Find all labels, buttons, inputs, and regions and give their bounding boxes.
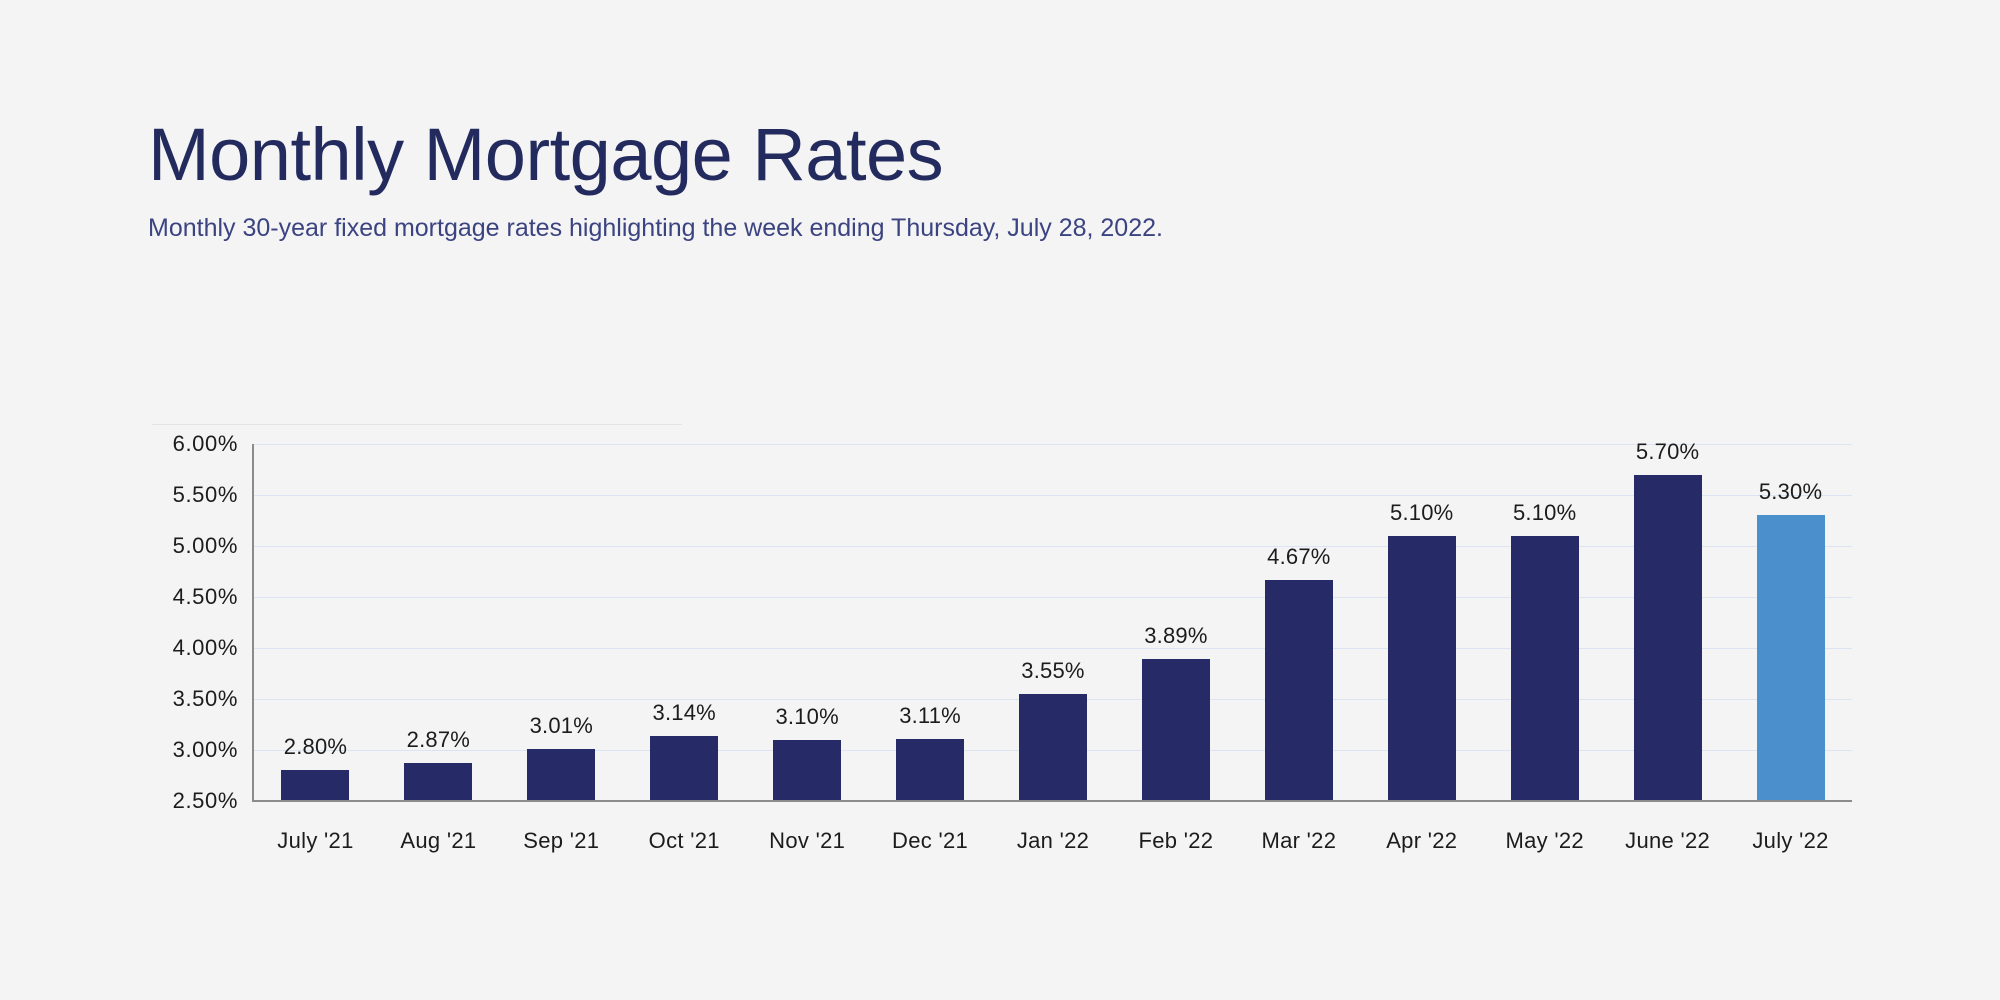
bar[interactable] — [896, 739, 964, 801]
y-axis-tick-label: 6.00% — [150, 431, 238, 457]
bar[interactable] — [1511, 536, 1579, 801]
bar[interactable] — [1388, 536, 1456, 801]
x-axis-line — [252, 800, 1852, 802]
bar-highlighted[interactable] — [1757, 515, 1825, 801]
y-axis-tick-label: 3.00% — [150, 737, 238, 763]
bar-group: 3.11% — [869, 444, 992, 801]
bar-group: 2.80% — [254, 444, 377, 801]
bar-value-label: 3.10% — [775, 704, 838, 730]
x-axis-tick-label: July '22 — [1752, 828, 1828, 854]
bar-value-label: 5.70% — [1636, 439, 1699, 465]
bar-value-label: 2.80% — [284, 734, 347, 760]
chart-canvas: Monthly Mortgage Rates Monthly 30-year f… — [0, 0, 2000, 1000]
y-axis-tick-label: 5.50% — [150, 482, 238, 508]
x-axis-tick-label: Oct '21 — [649, 828, 720, 854]
bar-value-label: 5.10% — [1390, 500, 1453, 526]
y-axis-tick-label: 2.50% — [150, 788, 238, 814]
chart-header: Monthly Mortgage Rates Monthly 30-year f… — [148, 118, 1648, 243]
y-axis-tick-label: 5.00% — [150, 533, 238, 559]
bar[interactable] — [1142, 659, 1210, 801]
bar-group: 5.30% — [1729, 444, 1852, 801]
x-axis-tick-label: Dec '21 — [892, 828, 968, 854]
x-axis-tick-label: Aug '21 — [400, 828, 476, 854]
bar-value-label: 4.67% — [1267, 544, 1330, 570]
bar-group: 3.55% — [992, 444, 1115, 801]
bar[interactable] — [527, 749, 595, 801]
y-axis-tick-label: 3.50% — [150, 686, 238, 712]
bar-group: 2.87% — [377, 444, 500, 801]
bar[interactable] — [404, 763, 472, 801]
bar[interactable] — [281, 770, 349, 801]
bar[interactable] — [773, 740, 841, 801]
bar-value-label: 3.14% — [653, 700, 716, 726]
bar-group: 3.01% — [500, 444, 623, 801]
x-axis-tick-label: Nov '21 — [769, 828, 845, 854]
x-axis-tick-label: June '22 — [1625, 828, 1710, 854]
bar[interactable] — [1634, 475, 1702, 801]
bar-group: 3.89% — [1114, 444, 1237, 801]
x-axis: July '21Aug '21Sep '21Oct '21Nov '21Dec … — [254, 828, 1852, 868]
page-title: Monthly Mortgage Rates — [148, 118, 1648, 192]
bar[interactable] — [650, 736, 718, 801]
bar-value-label: 3.11% — [899, 703, 961, 729]
bar-value-label: 3.55% — [1021, 658, 1084, 684]
bar-value-label: 5.30% — [1759, 479, 1822, 505]
bar[interactable] — [1265, 580, 1333, 801]
top-rule-divider — [152, 424, 682, 425]
y-axis-tick-label: 4.00% — [150, 635, 238, 661]
bar-value-label: 2.87% — [407, 727, 470, 753]
bar-value-label: 3.89% — [1144, 623, 1207, 649]
x-axis-tick-label: Feb '22 — [1139, 828, 1214, 854]
bar-group: 3.14% — [623, 444, 746, 801]
x-axis-tick-label: Apr '22 — [1386, 828, 1457, 854]
bar-group: 5.10% — [1483, 444, 1606, 801]
x-axis-tick-label: Jan '22 — [1017, 828, 1089, 854]
y-axis: 6.00%5.50%5.00%4.50%4.00%3.50%3.00%2.50% — [152, 444, 244, 800]
x-axis-tick-label: Mar '22 — [1261, 828, 1336, 854]
plot-area: 6.00%5.50%5.00%4.50%4.00%3.50%3.00%2.50%… — [152, 424, 1852, 804]
bar-group: 5.10% — [1360, 444, 1483, 801]
chart-subtitle: Monthly 30-year fixed mortgage rates hig… — [148, 214, 1648, 243]
bar-value-label: 3.01% — [530, 713, 593, 739]
x-axis-tick-label: July '21 — [277, 828, 353, 854]
bar-group: 3.10% — [746, 444, 869, 801]
bar-group: 5.70% — [1606, 444, 1729, 801]
x-axis-tick-label: May '22 — [1505, 828, 1583, 854]
bar[interactable] — [1019, 694, 1087, 801]
x-axis-tick-label: Sep '21 — [523, 828, 599, 854]
bar-series: 2.80%2.87%3.01%3.14%3.10%3.11%3.55%3.89%… — [254, 444, 1852, 801]
y-axis-tick-label: 4.50% — [150, 584, 238, 610]
bar-value-label: 5.10% — [1513, 500, 1576, 526]
bar-group: 4.67% — [1237, 444, 1360, 801]
